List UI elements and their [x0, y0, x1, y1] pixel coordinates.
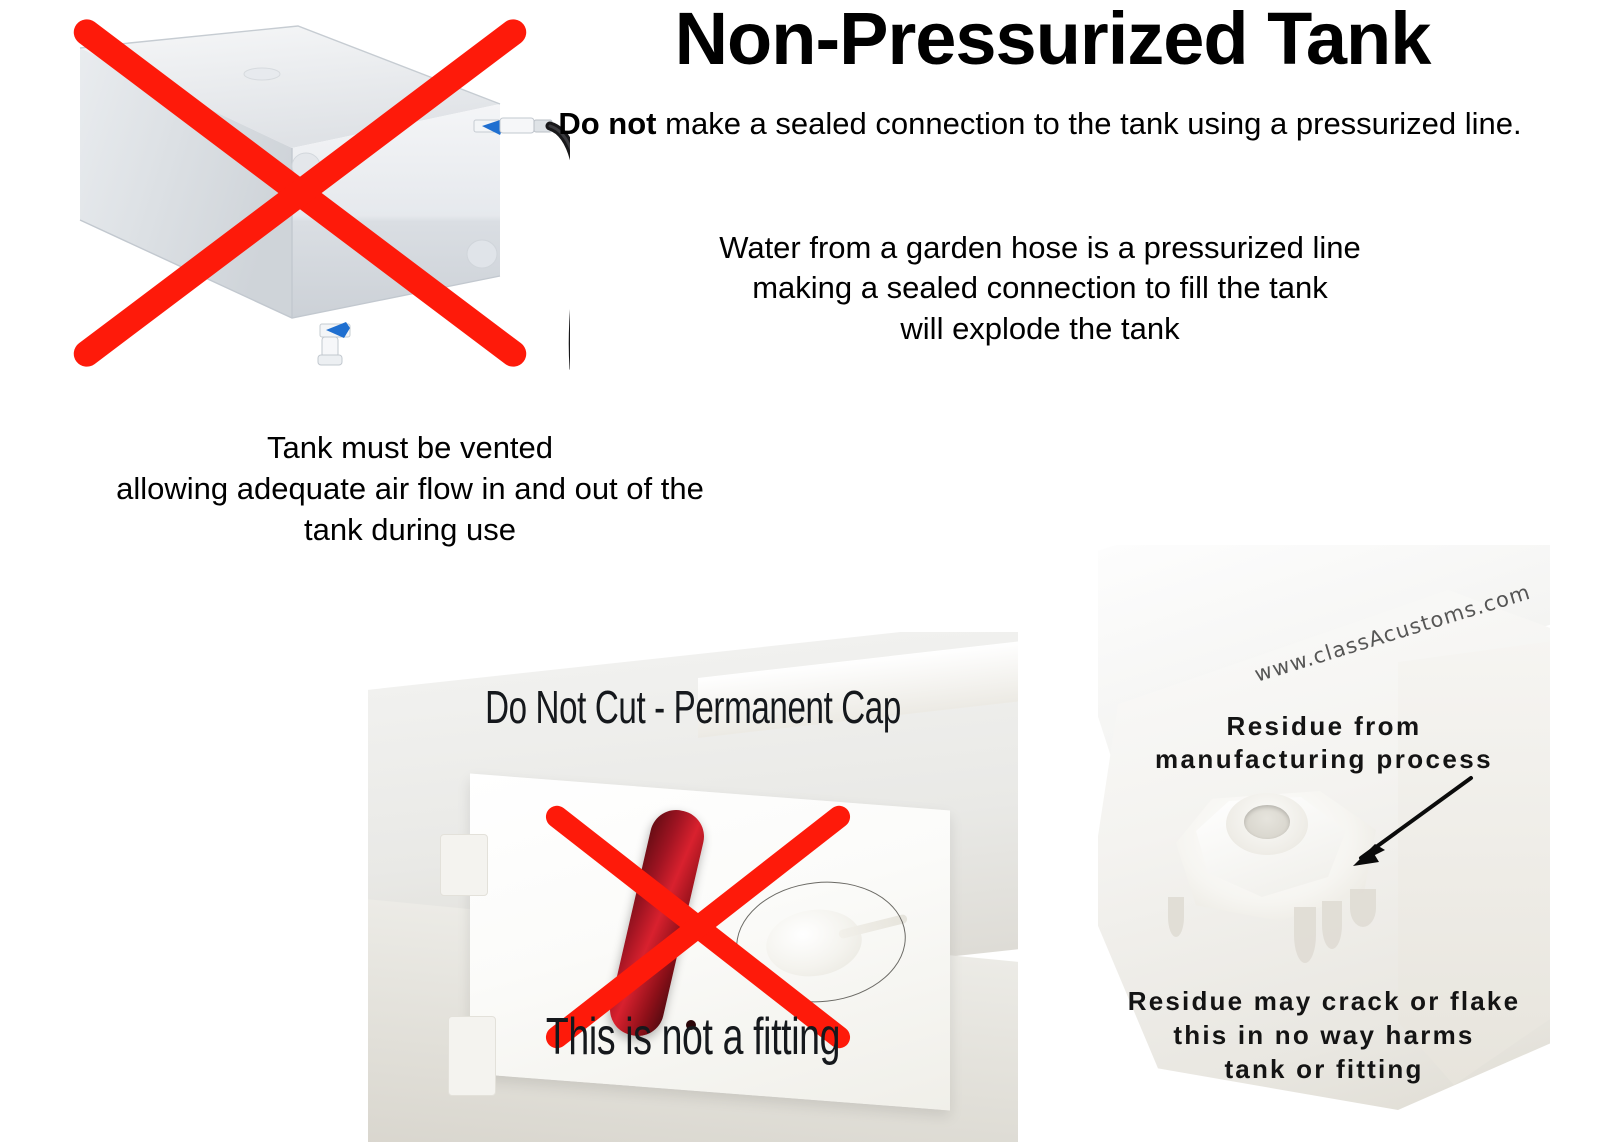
residue-drip-3 [1322, 901, 1342, 949]
residue-arrow-icon [1323, 770, 1483, 880]
tank-tab-upper [440, 834, 488, 896]
residue-drip-4 [1350, 889, 1376, 927]
residue-label-bottom: Residue may crack or flake this in no wa… [1098, 985, 1550, 1086]
permanent-cap-photo: Do Not Cut - Permanent Cap This is not a… [368, 632, 1018, 1142]
warning-do-not-rest: make a sealed connection to the tank usi… [657, 106, 1522, 141]
page-title: Non-Pressurized Tank [515, 2, 1590, 76]
tank-photo [30, 8, 570, 378]
warning-pressurized-line: Water from a garden hose is a pressurize… [560, 228, 1520, 349]
cap-label-do-not-cut: Do Not Cut - Permanent Cap [459, 680, 927, 734]
infographic-canvas: Non-Pressurized Tank Do not make a seale… [0, 0, 1600, 1142]
tank-fitting-bore [1244, 805, 1290, 839]
residue-drip-1 [1168, 897, 1184, 937]
warning-vented: Tank must be vented allowing adequate ai… [10, 428, 810, 551]
residue-drip-2 [1294, 907, 1316, 963]
residue-photo: www.classAcustoms.com Residue from manuf… [1098, 545, 1550, 1142]
warning-do-not: Do not make a sealed connection to the t… [540, 103, 1540, 144]
cap-label-not-a-fitting: This is not a fitting [459, 1007, 927, 1067]
tank-illustration [30, 8, 570, 378]
warning-do-not-emphasis: Do not [558, 106, 656, 141]
residue-label-top: Residue from manufacturing process [1098, 710, 1550, 777]
